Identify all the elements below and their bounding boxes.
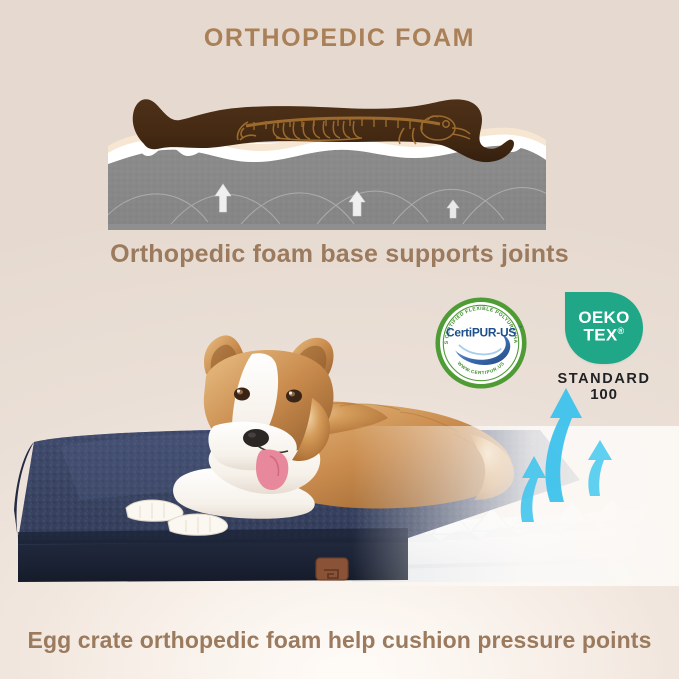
bed-logo-patch xyxy=(316,558,348,580)
oeko-line1: OEKO xyxy=(578,308,629,327)
dog-bed-product-scene xyxy=(0,330,679,630)
top-caption: Orthopedic foam base supports joints xyxy=(0,240,679,269)
scene-fade xyxy=(352,426,679,586)
dog-skeleton-on-foam-illustration xyxy=(108,86,546,232)
dog-nose xyxy=(243,429,269,447)
page-title: ORTHOPEDIC FOAM xyxy=(0,24,679,53)
bottom-caption: Egg crate orthopedic foam help cushion p… xyxy=(0,627,679,654)
infographic-canvas: ORTHOPEDIC FOAM xyxy=(0,0,679,679)
